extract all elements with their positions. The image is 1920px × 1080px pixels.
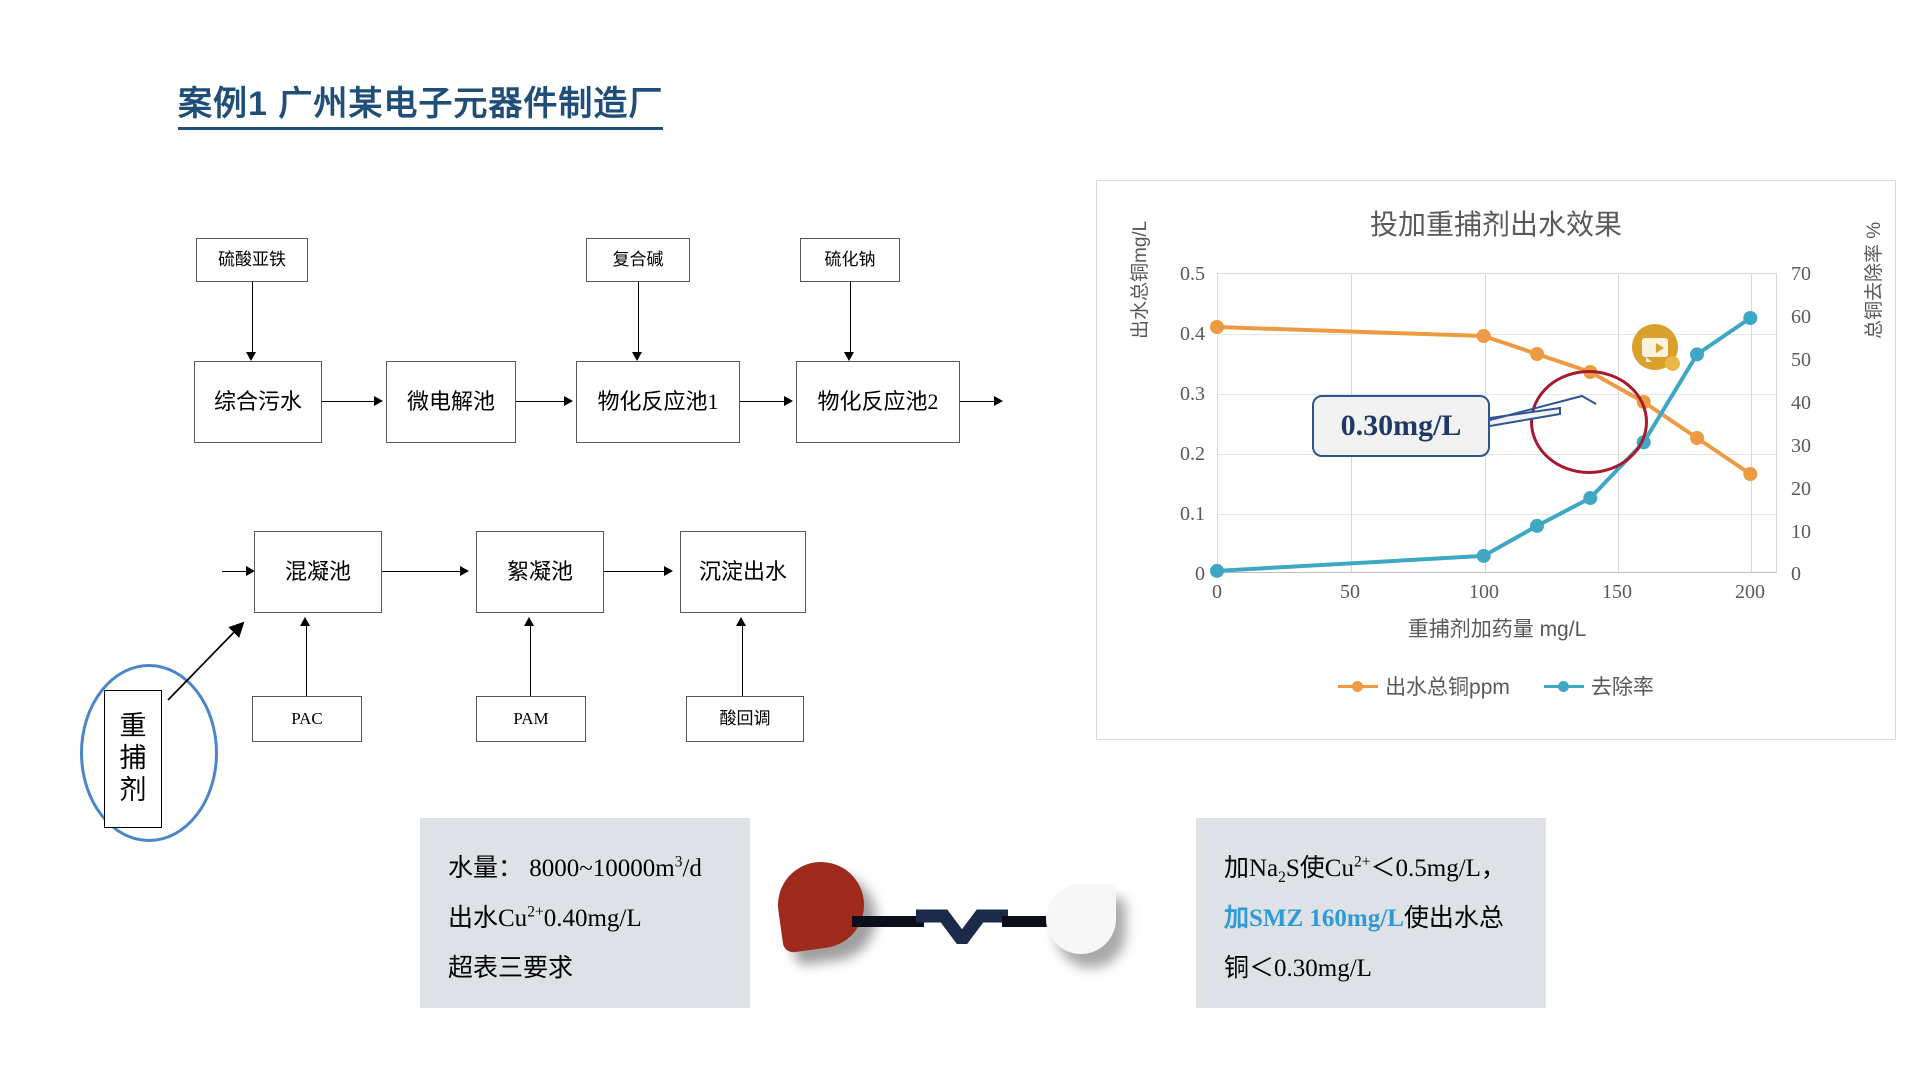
comment-badge-icon[interactable] — [1632, 324, 1678, 370]
callout-leader-lines — [0, 0, 1920, 1080]
value-callout-bubble: 0.30mg/L — [1312, 395, 1490, 457]
play-triangle-icon — [1656, 343, 1664, 353]
callout-value: 0.30mg/L — [1341, 409, 1462, 443]
speech-bubble-shape — [1642, 338, 1668, 357]
badge-nub — [1665, 356, 1680, 371]
